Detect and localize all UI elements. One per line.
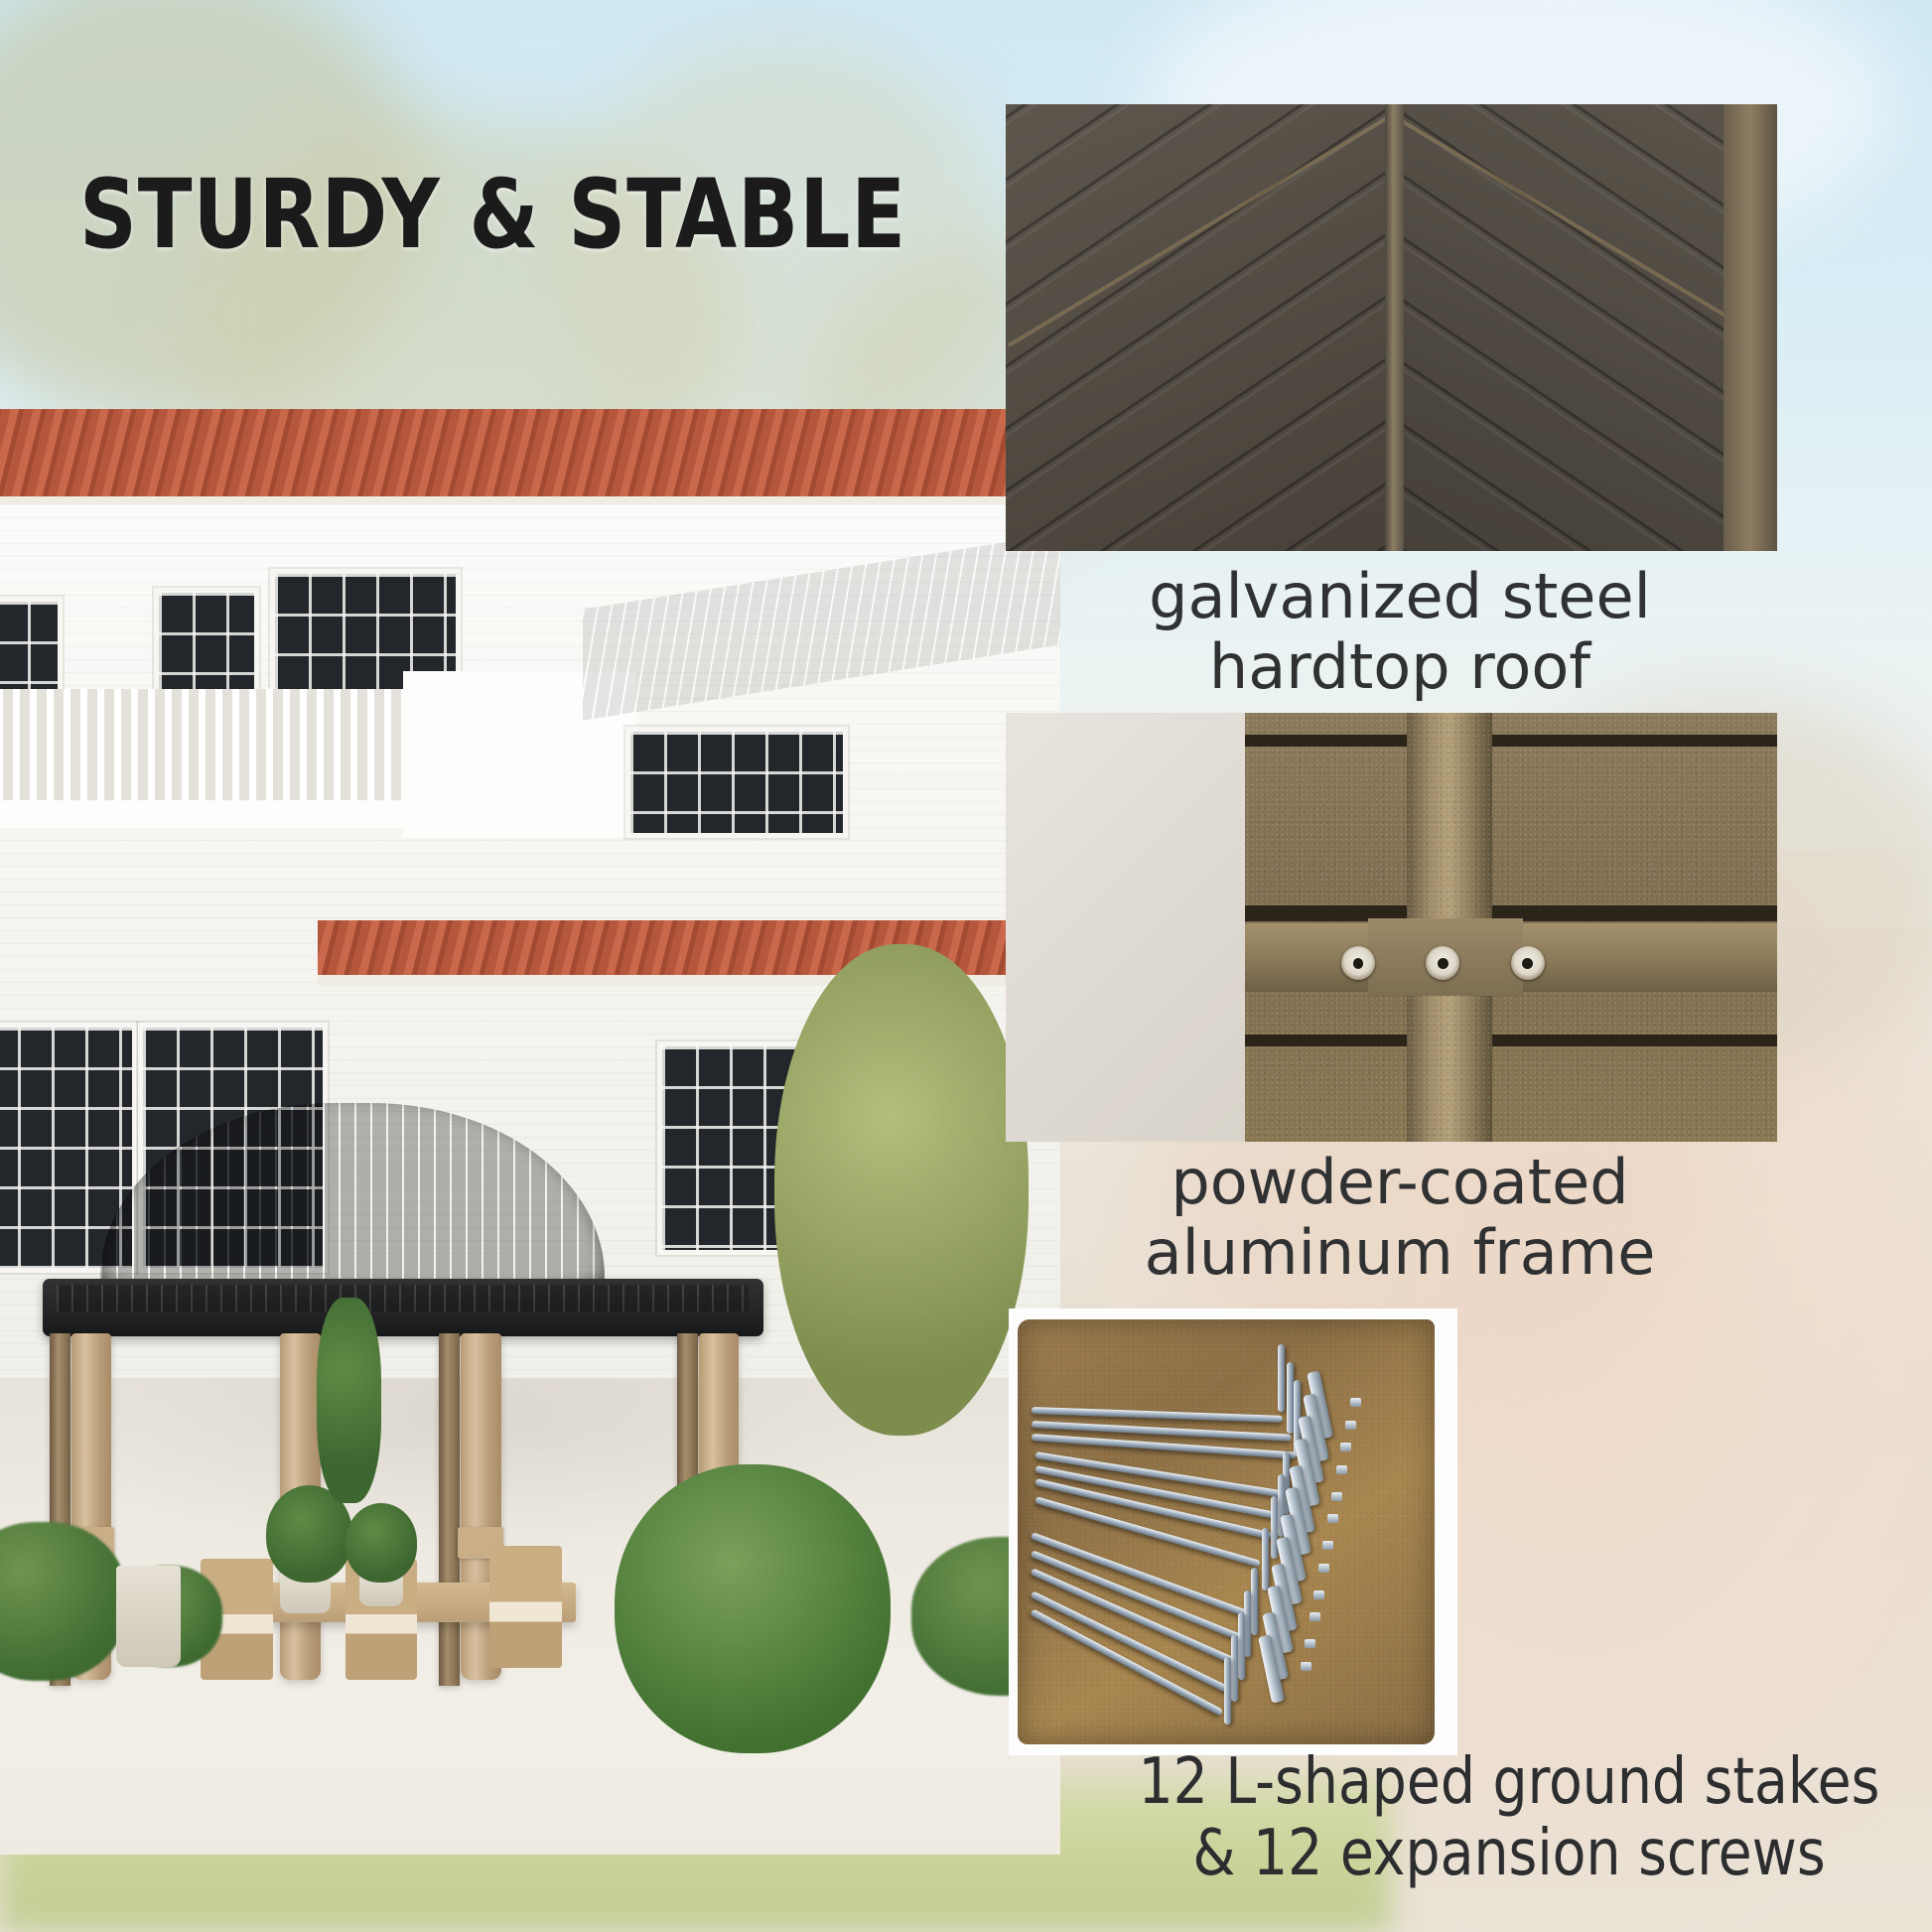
screw-nut — [1336, 1465, 1347, 1474]
roof-caption-line2: hardtop roof — [1052, 632, 1747, 703]
roof-caption: galvanized steel hardtop roof — [1052, 562, 1747, 702]
screw-nut — [1350, 1398, 1361, 1407]
roof-ridge-cap — [1385, 104, 1404, 551]
stakes-caption: 12 L-shaped ground stakes & 12 expansion… — [1128, 1747, 1890, 1889]
shrub-tree — [615, 1464, 891, 1753]
potted-plant — [345, 1503, 418, 1582]
frame-caption-line1: powder-coated — [1052, 1148, 1747, 1218]
ground-stake-hook — [1262, 1528, 1269, 1590]
gazebo-post — [439, 1333, 460, 1686]
roof-detail-photo — [1006, 104, 1777, 551]
roof-panel-right — [1392, 104, 1778, 551]
stakes-caption-line1: 12 L-shaped ground stakes — [1128, 1747, 1890, 1819]
screw-nut — [1340, 1443, 1351, 1451]
garden-pot — [116, 1566, 180, 1667]
stakes-caption-line2: & 12 expansion screws — [1128, 1819, 1890, 1890]
roof-caption-line1: galvanized steel — [1052, 562, 1747, 632]
frame-groove — [1245, 1035, 1777, 1046]
climbing-vine — [317, 1298, 381, 1504]
stakes-detail-photo — [1009, 1309, 1457, 1755]
screw-nut — [1345, 1421, 1356, 1430]
ground-stake-hook — [1278, 1344, 1285, 1412]
screw-nut — [1301, 1662, 1311, 1671]
screw-nut — [1310, 1612, 1320, 1621]
olive-tree — [774, 944, 1029, 1436]
ground-stake-hook — [1238, 1612, 1245, 1680]
screw-nut — [1331, 1492, 1342, 1501]
screw-nut — [1318, 1564, 1329, 1573]
ground-stake-hook — [1244, 1590, 1251, 1658]
screw-nut — [1327, 1514, 1338, 1523]
patio-chair — [489, 1546, 562, 1667]
ground-stake-hook — [1224, 1657, 1231, 1725]
frame-detail-photo — [1006, 713, 1777, 1142]
screw-nut — [1305, 1639, 1315, 1648]
page-title: STURDY & STABLE — [79, 167, 906, 262]
terracotta-roof — [0, 409, 1060, 513]
right-window — [625, 727, 848, 839]
frame-caption-line2: aluminum frame — [1052, 1218, 1747, 1289]
screw-nut — [1313, 1590, 1324, 1599]
ground-stake-hook — [1271, 1496, 1278, 1559]
product-feature-image: STURDY & STABLE — [0, 0, 1932, 1932]
gazebo-eave — [43, 1279, 763, 1336]
balcony-railing — [0, 689, 403, 800]
ground-stake-hook — [1231, 1635, 1238, 1703]
roof-corner-post — [1724, 104, 1777, 551]
ground-stake-hook — [1251, 1568, 1258, 1635]
frame-groove — [1245, 735, 1777, 747]
screw-nut — [1322, 1541, 1333, 1550]
frame-caption: powder-coated aluminum frame — [1052, 1148, 1747, 1288]
roof-panel-left — [1006, 104, 1392, 551]
main-lifestyle-photo — [0, 409, 1060, 1855]
